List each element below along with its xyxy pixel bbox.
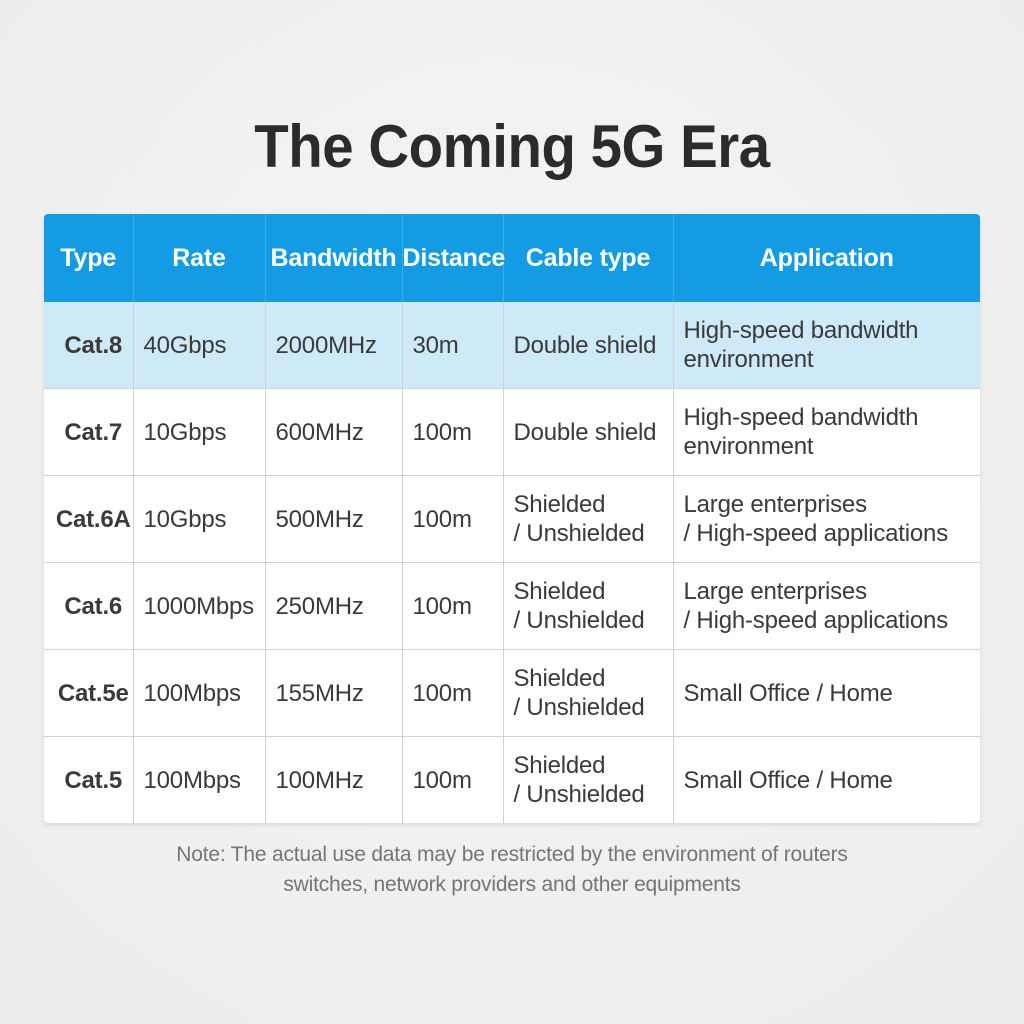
column-header-distance[interactable]: Distance bbox=[402, 214, 503, 302]
cable-comparison-page: The Coming 5G Era Type Rate Bandwidth Di… bbox=[0, 0, 1024, 1024]
cell-cable-type: Double shield bbox=[503, 302, 673, 389]
cell-application: High-speed bandwidthenvironment bbox=[673, 302, 980, 389]
cell-distance: 100m bbox=[402, 476, 503, 563]
cell-cable-type-line-1: Double shield bbox=[514, 331, 673, 360]
cell-application-line-1: High-speed bandwidth bbox=[684, 403, 981, 432]
cell-distance: 100m bbox=[402, 737, 503, 824]
cell-application-line-1: High-speed bandwidth bbox=[684, 316, 981, 345]
cell-bandwidth: 100MHz bbox=[265, 737, 402, 824]
table-header: Type Rate Bandwidth Distance Cable type … bbox=[44, 214, 980, 302]
cell-type: Cat.8 bbox=[44, 302, 133, 389]
cell-application: Small Office / Home bbox=[673, 737, 980, 824]
table-row[interactable]: Cat.5100Mbps100MHz100mShielded/ Unshield… bbox=[44, 737, 980, 824]
cell-application-line-1: Large enterprises bbox=[684, 490, 981, 519]
cell-cable-type-line-1: Shielded bbox=[514, 490, 673, 519]
cell-cable-type-line-1: Shielded bbox=[514, 751, 673, 780]
cell-cable-type: Shielded/ Unshielded bbox=[503, 476, 673, 563]
cell-application-line-2: environment bbox=[684, 345, 981, 374]
cell-application: Large enterprises/ High-speed applicatio… bbox=[673, 476, 980, 563]
table-row[interactable]: Cat.840Gbps2000MHz30mDouble shieldHigh-s… bbox=[44, 302, 980, 389]
cell-application: Large enterprises/ High-speed applicatio… bbox=[673, 563, 980, 650]
cell-cable-type-line-1: Shielded bbox=[514, 577, 673, 606]
cell-cable-type: Shielded/ Unshielded bbox=[503, 650, 673, 737]
cell-cable-type-line-2: / Unshielded bbox=[514, 519, 673, 548]
column-header-application[interactable]: Application bbox=[673, 214, 980, 302]
cell-distance: 100m bbox=[402, 563, 503, 650]
table-row[interactable]: Cat.61000Mbps250MHz100mShielded/ Unshiel… bbox=[44, 563, 980, 650]
table-row[interactable]: Cat.710Gbps600MHz100mDouble shieldHigh-s… bbox=[44, 389, 980, 476]
cell-rate: 40Gbps bbox=[133, 302, 265, 389]
cell-application-line-1: Small Office / Home bbox=[684, 679, 981, 708]
cell-rate: 10Gbps bbox=[133, 476, 265, 563]
cell-application-line-2: / High-speed applications bbox=[684, 606, 981, 635]
column-header-rate[interactable]: Rate bbox=[133, 214, 265, 302]
cell-cable-type-line-2: / Unshielded bbox=[514, 693, 673, 722]
cell-rate: 10Gbps bbox=[133, 389, 265, 476]
column-header-bandwidth[interactable]: Bandwidth bbox=[265, 214, 402, 302]
footnote-line-1: Note: The actual use data may be restric… bbox=[0, 840, 1024, 870]
cell-type: Cat.7 bbox=[44, 389, 133, 476]
table-footnote: Note: The actual use data may be restric… bbox=[0, 840, 1024, 900]
column-header-cable-type[interactable]: Cable type bbox=[503, 214, 673, 302]
table-row[interactable]: Cat.5e100Mbps155MHz100mShielded/ Unshiel… bbox=[44, 650, 980, 737]
cell-rate: 100Mbps bbox=[133, 737, 265, 824]
table-header-row: Type Rate Bandwidth Distance Cable type … bbox=[44, 214, 980, 302]
cell-cable-type: Shielded/ Unshielded bbox=[503, 563, 673, 650]
footnote-line-2: switches, network providers and other eq… bbox=[0, 870, 1024, 900]
cell-application-line-1: Large enterprises bbox=[684, 577, 981, 606]
cell-cable-type-line-2: / Unshielded bbox=[514, 606, 673, 635]
cell-application: Small Office / Home bbox=[673, 650, 980, 737]
cell-application-line-2: / High-speed applications bbox=[684, 519, 981, 548]
cell-application-line-2: environment bbox=[684, 432, 981, 461]
cell-bandwidth: 155MHz bbox=[265, 650, 402, 737]
table-body: Cat.840Gbps2000MHz30mDouble shieldHigh-s… bbox=[44, 302, 980, 823]
cell-rate: 100Mbps bbox=[133, 650, 265, 737]
column-header-type[interactable]: Type bbox=[44, 214, 133, 302]
cell-cable-type-line-2: / Unshielded bbox=[514, 780, 673, 809]
page-title: The Coming 5G Era bbox=[31, 112, 994, 182]
cell-rate: 1000Mbps bbox=[133, 563, 265, 650]
cell-cable-type-line-1: Double shield bbox=[514, 418, 673, 447]
cell-type: Cat.6A bbox=[44, 476, 133, 563]
cell-bandwidth: 500MHz bbox=[265, 476, 402, 563]
cell-bandwidth: 2000MHz bbox=[265, 302, 402, 389]
cell-distance: 100m bbox=[402, 389, 503, 476]
cable-spec-table-container: Type Rate Bandwidth Distance Cable type … bbox=[44, 214, 980, 823]
cell-application: High-speed bandwidthenvironment bbox=[673, 389, 980, 476]
cell-application-line-1: Small Office / Home bbox=[684, 766, 981, 795]
cell-bandwidth: 600MHz bbox=[265, 389, 402, 476]
cell-bandwidth: 250MHz bbox=[265, 563, 402, 650]
cell-cable-type: Double shield bbox=[503, 389, 673, 476]
cell-type: Cat.6 bbox=[44, 563, 133, 650]
cell-distance: 30m bbox=[402, 302, 503, 389]
cable-spec-table: Type Rate Bandwidth Distance Cable type … bbox=[44, 214, 980, 823]
table-row[interactable]: Cat.6A10Gbps500MHz100mShielded/ Unshield… bbox=[44, 476, 980, 563]
cell-distance: 100m bbox=[402, 650, 503, 737]
cell-cable-type: Shielded/ Unshielded bbox=[503, 737, 673, 824]
cell-type: Cat.5e bbox=[44, 650, 133, 737]
cell-type: Cat.5 bbox=[44, 737, 133, 824]
cell-cable-type-line-1: Shielded bbox=[514, 664, 673, 693]
